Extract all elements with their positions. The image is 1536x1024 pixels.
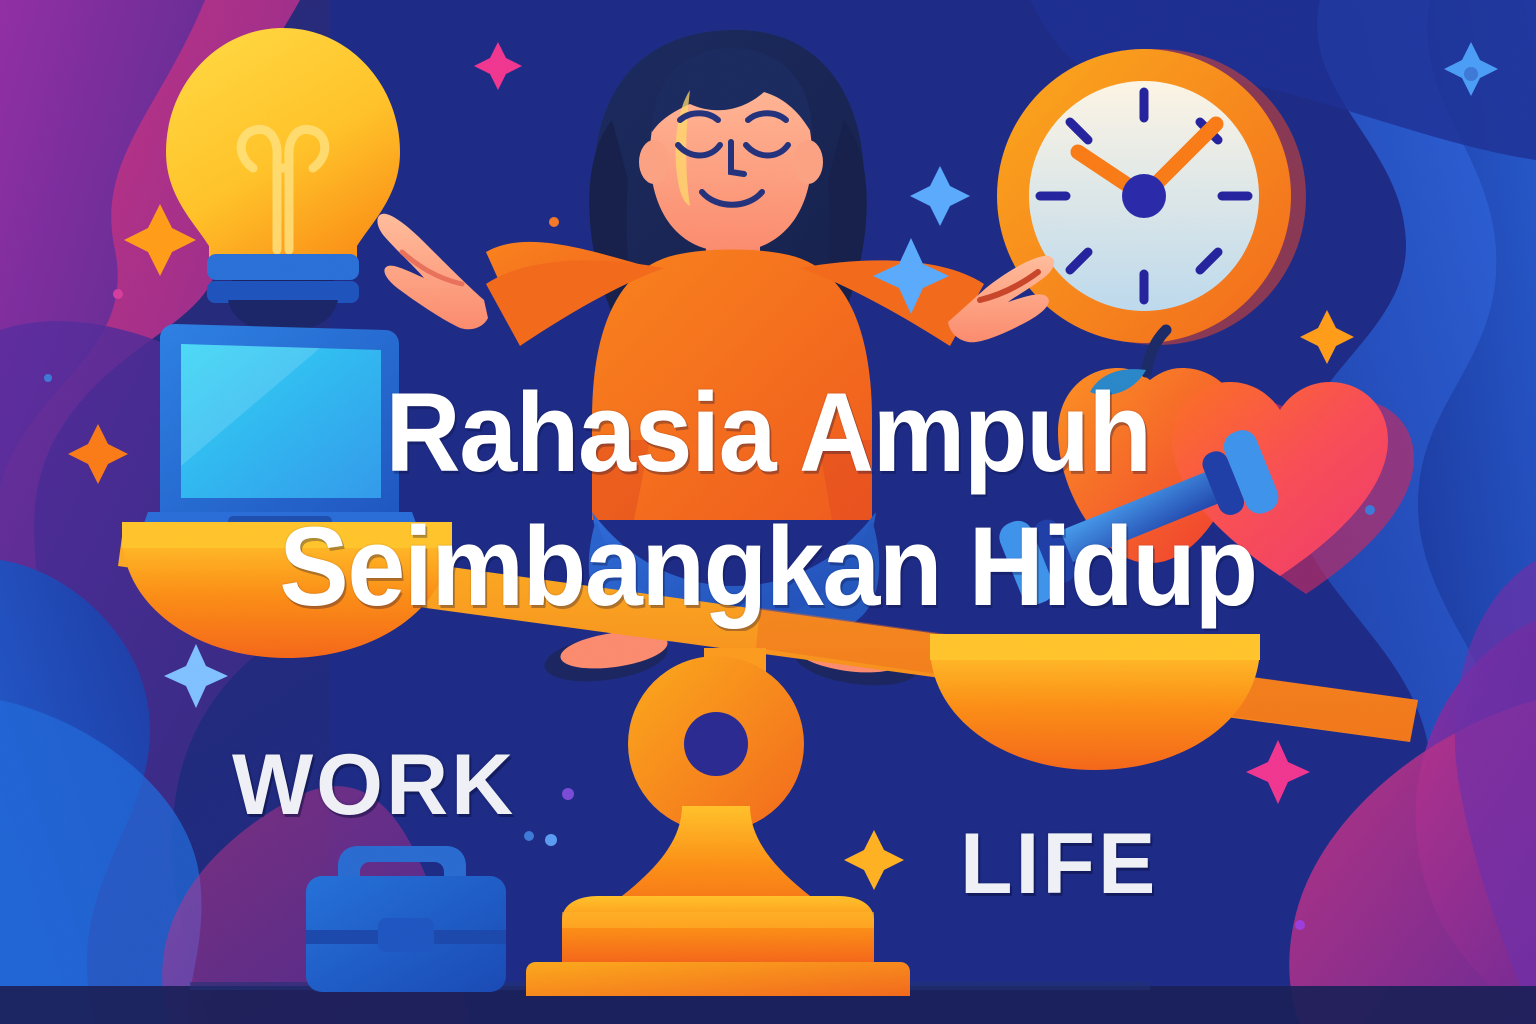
illustration-canvas: Rahasia Ampuh Seimbangkan Hidup WORK LIF… bbox=[0, 0, 1536, 1024]
grain-overlay bbox=[0, 0, 1536, 1024]
illustration-artwork bbox=[0, 0, 1536, 1024]
